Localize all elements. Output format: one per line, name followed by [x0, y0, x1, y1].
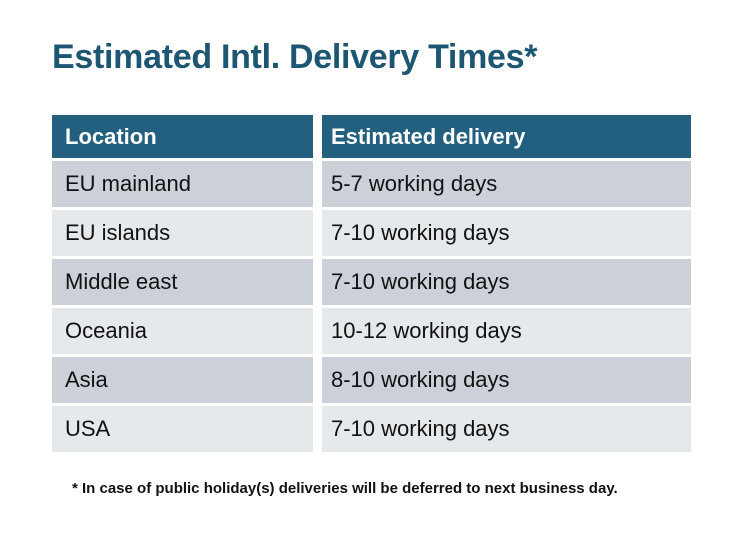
column-gutter	[313, 357, 322, 403]
column-gutter	[313, 161, 322, 207]
column-header-location: Location	[52, 115, 313, 158]
delivery-times-table: Location Estimated delivery EU mainland …	[52, 115, 691, 455]
table-row: Oceania 10-12 working days	[52, 308, 691, 354]
footnote: * In case of public holiday(s) deliverie…	[72, 480, 618, 497]
table-row: USA 7-10 working days	[52, 406, 691, 452]
cell-estimated-delivery: 7-10 working days	[322, 210, 691, 256]
table-row: EU islands 7-10 working days	[52, 210, 691, 256]
column-gutter	[313, 210, 322, 256]
cell-location: EU islands	[52, 210, 313, 256]
cell-estimated-delivery: 7-10 working days	[322, 259, 691, 305]
page-title: Estimated Intl. Delivery Times*	[52, 38, 537, 77]
table-row: Middle east 7-10 working days	[52, 259, 691, 305]
column-gutter	[313, 259, 322, 305]
column-gutter	[313, 115, 322, 158]
table-header-row: Location Estimated delivery	[52, 115, 691, 158]
table-row: Asia 8-10 working days	[52, 357, 691, 403]
cell-location: Asia	[52, 357, 313, 403]
cell-estimated-delivery: 5-7 working days	[322, 161, 691, 207]
cell-location: Middle east	[52, 259, 313, 305]
column-gutter	[313, 406, 322, 452]
cell-estimated-delivery: 8-10 working days	[322, 357, 691, 403]
cell-estimated-delivery: 7-10 working days	[322, 406, 691, 452]
column-gutter	[313, 308, 322, 354]
cell-location: Oceania	[52, 308, 313, 354]
column-header-estimated-delivery: Estimated delivery	[322, 115, 691, 158]
cell-location: EU mainland	[52, 161, 313, 207]
cell-location: USA	[52, 406, 313, 452]
cell-estimated-delivery: 10-12 working days	[322, 308, 691, 354]
table-row: EU mainland 5-7 working days	[52, 161, 691, 207]
